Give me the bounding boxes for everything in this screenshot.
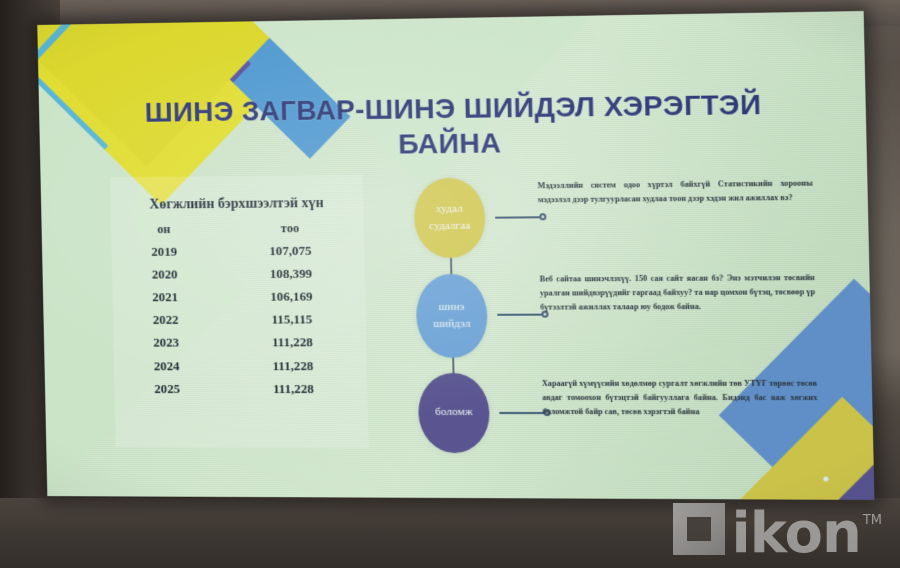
paragraph-solution: Веб сайтаа шинэчлэхүү. 150 сая сайт яаса… [540,271,816,314]
diagram-node-solution: шинэ шийдэл [415,274,488,358]
diagram-node-research: худал судалгаа [413,178,486,259]
connector-horizontal-3 [499,412,543,414]
decoration-white-dot [823,476,828,481]
statistics-table: он тоо 2019 107,075 2020 108,399 2021 [111,217,368,401]
paragraph-research: Мэдээллийн систем одоо хүртэл байхгүй Ст… [537,176,813,207]
table-row: 2025 111,228 [114,377,367,400]
presentation-slide: ШИНЭ ЗАГВАР-ШИНЭ ШИЙДЭЛ ХЭРЭГТЭЙ БАЙНА Х… [37,11,874,500]
column-header-count: тоо [216,217,364,240]
diagram-node-opportunity: боломж [418,373,491,453]
cell-year: 2021 [112,286,218,309]
cell-count: 106,169 [218,285,366,309]
table-row: 2020 108,399 [112,262,365,286]
ikon-logo-inner-square [687,517,711,541]
cell-count: 115,115 [218,308,366,332]
cell-count: 111,228 [220,377,368,400]
table-header-row: он тоо [111,217,364,241]
connector-horizontal-1 [495,216,539,218]
table-row: 2019 107,075 [111,239,364,264]
projection-screen: ШИНЭ ЗАГВАР-ШИНЭ ШИЙДЭЛ ХЭРЭГТЭЙ БАЙНА Х… [37,11,874,500]
slide-title: ШИНЭ ЗАГВАР-ШИНЭ ШИЙДЭЛ ХЭРЭГТЭЙ БАЙНА [124,87,784,164]
cell-year: 2023 [113,331,219,354]
connector-endpoint-circle-icon [539,213,546,220]
cell-year: 2019 [111,240,217,264]
statistics-panel: Хөгжлийн бэрхшээлтэй хүн он тоо 2019 107… [110,175,369,448]
ikon-watermark: ikon TM [673,503,882,558]
table-row: 2024 111,228 [114,354,367,377]
cell-year: 2022 [113,308,219,331]
connector-horizontal-2 [497,314,541,316]
column-header-year: он [111,218,217,241]
node-label-line2: шийдэл [433,316,471,333]
table-row: 2023 111,228 [113,331,366,355]
cell-count: 111,228 [219,331,367,354]
node-label-line1: боломж [435,404,473,421]
paragraph-opportunity: Хараагүй хүмүүсийн хөдөлмөр сургалт хөгж… [542,377,818,419]
cell-year: 2025 [114,377,220,400]
cell-year: 2020 [112,263,218,286]
table-caption: Хөгжлийн бэрхшээлтэй хүн [110,175,363,214]
watermark-text: ikon [732,510,861,558]
cell-count: 107,075 [217,239,365,263]
table-row: 2022 115,115 [113,308,366,332]
node-label-line1: худал [436,201,463,218]
watermark-trademark: TM [863,513,882,528]
node-label-line2: судалгаа [429,218,471,235]
table-row: 2021 106,169 [112,285,365,309]
cell-year: 2024 [114,354,220,377]
ikon-logo-mark-icon [673,503,725,555]
cell-count: 108,399 [217,262,365,286]
cell-count: 111,228 [219,354,367,377]
node-label-line1: шинэ [438,299,464,316]
